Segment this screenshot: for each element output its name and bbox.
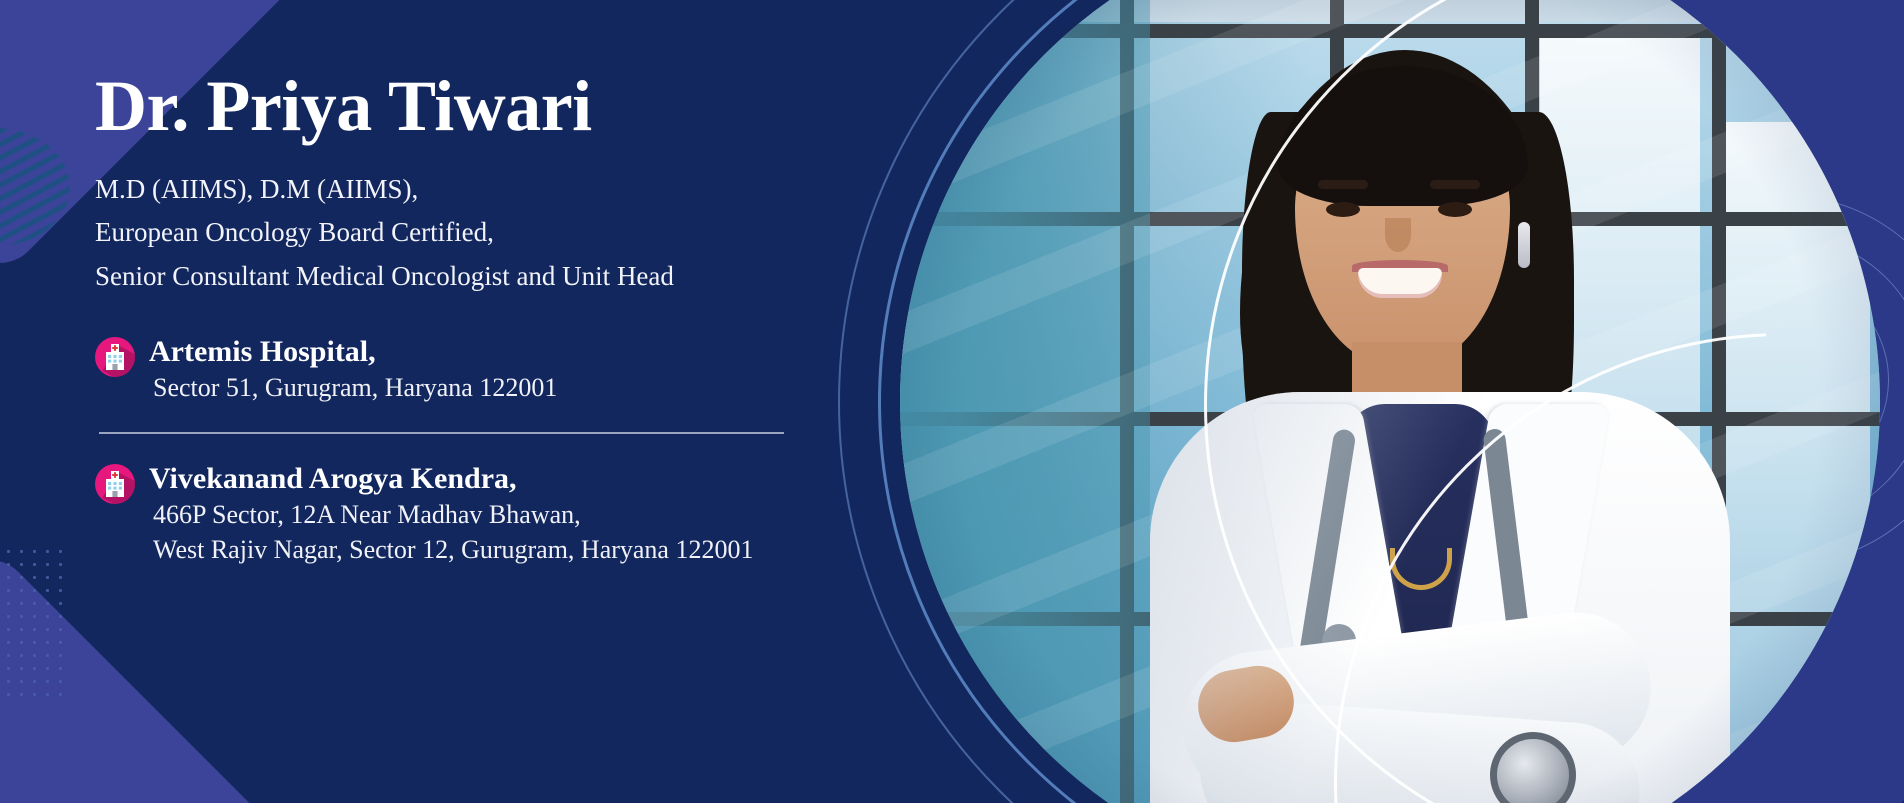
hospital-icon [95,464,135,504]
credentials-list: M.D (AIIMS), D.M (AIIMS), European Oncol… [95,168,915,299]
location-vivekanand: Vivekanand Arogya Kendra, 466P Sector, 1… [95,460,915,568]
location-text-vivekanand: Vivekanand Arogya Kendra, 466P Sector, 1… [149,460,753,568]
hospital-address-line: 466P Sector, 12A Near Madhav Bhawan, [149,497,753,532]
credential-line-3: Senior Consultant Medical Oncologist and… [95,255,915,299]
section-divider [99,432,784,434]
credential-line-1: M.D (AIIMS), D.M (AIIMS), [95,168,915,212]
dot-grid-decoration [2,545,70,705]
page-title: Dr. Priya Tiwari [95,68,915,146]
hospital-address-line: Sector 51, Gurugram, Haryana 122001 [149,370,557,405]
hospital-name: Vivekanand Arogya Kendra, [149,462,517,495]
profile-content: Dr. Priya Tiwari M.D (AIIMS), D.M (AIIMS… [95,68,915,567]
location-artemis: Artemis Hospital, Sector 51, Gurugram, H… [95,333,915,406]
doctor-profile-banner: Dr. Priya Tiwari M.D (AIIMS), D.M (AIIMS… [0,0,1904,803]
hospital-icon [95,337,135,377]
location-text-artemis: Artemis Hospital, Sector 51, Gurugram, H… [149,333,557,406]
hospital-name: Artemis Hospital, [149,335,376,368]
hospital-address-line: West Rajiv Nagar, Sector 12, Gurugram, H… [149,532,753,567]
credential-line-2: European Oncology Board Certified, [95,211,915,255]
